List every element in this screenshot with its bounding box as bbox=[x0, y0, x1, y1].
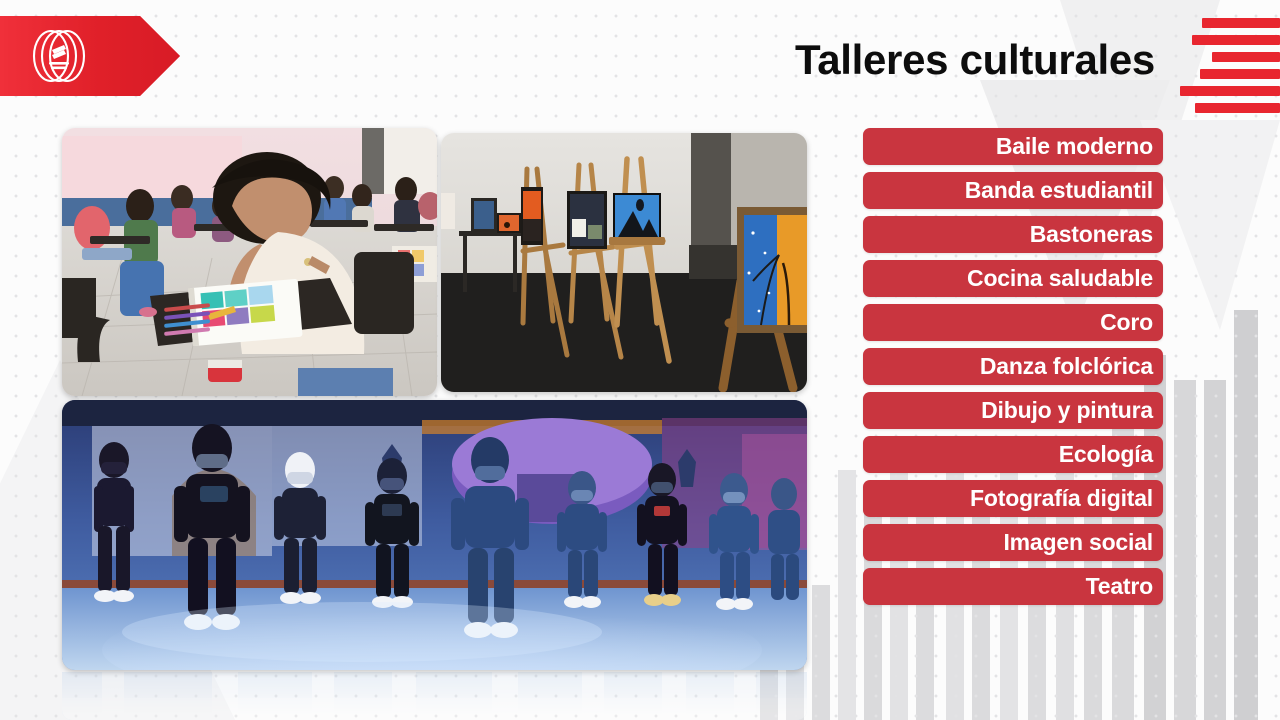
workshop-label: Coro bbox=[1100, 311, 1153, 334]
workshop-label: Banda estudiantil bbox=[965, 179, 1153, 202]
photo-classroom bbox=[62, 128, 437, 396]
workshop-button-cocina-saludable[interactable]: Cocina saludable bbox=[863, 260, 1163, 297]
header-bar-1 bbox=[1202, 18, 1280, 28]
workshop-label: Ecología bbox=[1059, 443, 1153, 466]
workshop-label: Bastoneras bbox=[1030, 223, 1153, 246]
workshop-label: Cocina saludable bbox=[967, 267, 1153, 290]
header-bar-6 bbox=[1195, 103, 1280, 113]
workshop-label: Teatro bbox=[1086, 575, 1153, 598]
workshop-button-coro[interactable]: Coro bbox=[863, 304, 1163, 341]
workshop-label: Imagen social bbox=[1003, 531, 1153, 554]
header-bar-5 bbox=[1180, 86, 1280, 96]
workshop-label: Dibujo y pintura bbox=[981, 399, 1153, 422]
institution-emblem-icon bbox=[22, 28, 96, 84]
photo-easels bbox=[441, 133, 807, 392]
page-title: Talleres culturales bbox=[795, 36, 1155, 84]
photo-dance bbox=[62, 400, 807, 670]
header-bars-decor bbox=[1178, 18, 1280, 114]
workshop-button-bastoneras[interactable]: Bastoneras bbox=[863, 216, 1163, 253]
workshop-button-fotografia-digital[interactable]: Fotografía digital bbox=[863, 480, 1163, 517]
header-bar-4 bbox=[1200, 69, 1280, 79]
header-bar-2 bbox=[1192, 35, 1280, 45]
workshop-button-teatro[interactable]: Teatro bbox=[863, 568, 1163, 605]
workshops-list: Baile moderno Banda estudiantil Bastoner… bbox=[863, 128, 1163, 605]
workshop-label: Danza folclórica bbox=[980, 355, 1153, 378]
workshop-button-imagen-social[interactable]: Imagen social bbox=[863, 524, 1163, 561]
header-bar-3 bbox=[1212, 52, 1280, 62]
workshop-button-dibujo-y-pintura[interactable]: Dibujo y pintura bbox=[863, 392, 1163, 429]
workshop-button-banda-estudiantil[interactable]: Banda estudiantil bbox=[863, 172, 1163, 209]
workshop-button-ecologia[interactable]: Ecología bbox=[863, 436, 1163, 473]
workshop-button-danza-folclorica[interactable]: Danza folclórica bbox=[863, 348, 1163, 385]
photo-reflection bbox=[62, 672, 807, 720]
workshop-label: Fotografía digital bbox=[970, 487, 1153, 510]
workshop-button-baile-moderno[interactable]: Baile moderno bbox=[863, 128, 1163, 165]
workshop-label: Baile moderno bbox=[996, 135, 1153, 158]
slide-canvas: Talleres culturales bbox=[0, 0, 1280, 720]
